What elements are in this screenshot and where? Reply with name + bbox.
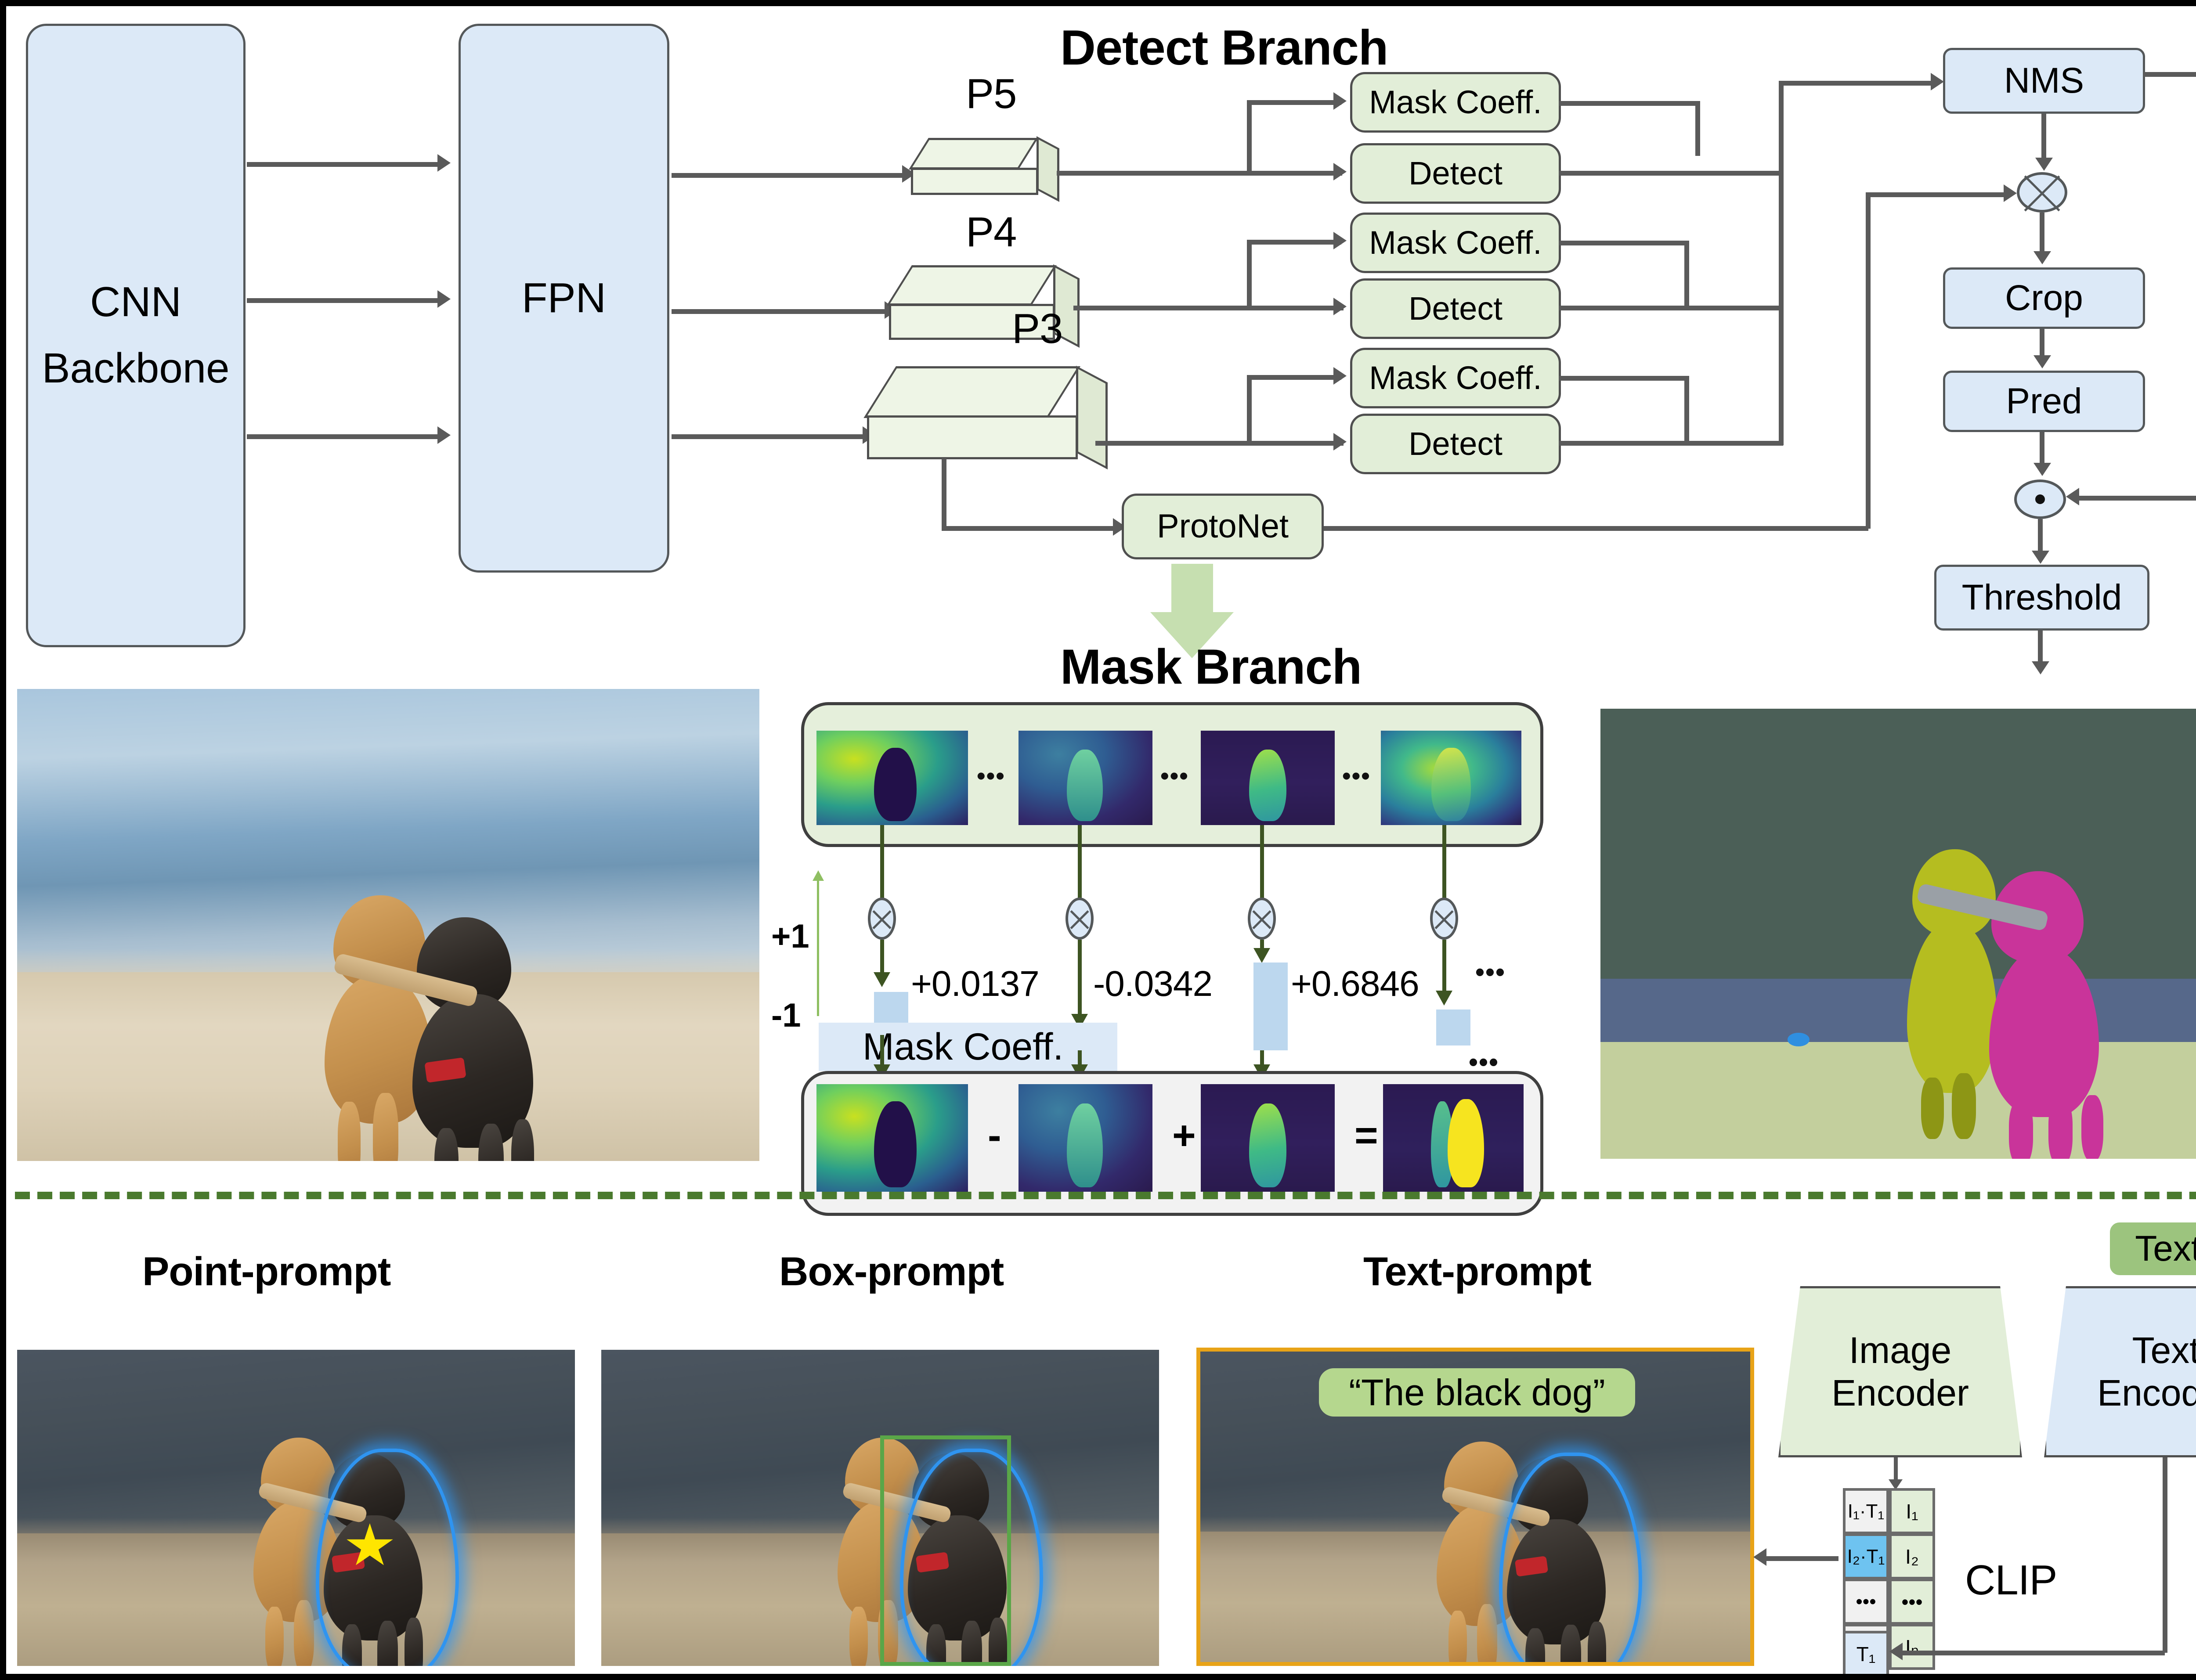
- clip-image-cell-2: I₂: [1889, 1533, 1935, 1579]
- detect-node-p5: Detect: [1350, 143, 1561, 204]
- image-encoder-label-2: Encoder: [1831, 1372, 1969, 1414]
- fpn-node: FPN: [459, 24, 669, 573]
- feature-map-p5: [911, 138, 1056, 208]
- box-prompt-title: Box-prompt: [779, 1249, 1004, 1295]
- prototype-mask-4: [1381, 731, 1521, 825]
- prototype-ellipsis-2: •••: [1160, 761, 1189, 790]
- point-prompt-title: Point-prompt: [142, 1249, 390, 1295]
- protonet-label: ProtoNet: [1157, 509, 1289, 544]
- mask-branch-title: Mask Branch: [1060, 638, 1362, 695]
- text-prompt-image: “The black dog”: [1196, 1348, 1754, 1666]
- p4-label: P4: [966, 208, 1016, 256]
- crop-label: Crop: [2005, 279, 2083, 317]
- assembly-term-1: [816, 1084, 968, 1192]
- coefficient-axis-arrow: [813, 870, 824, 881]
- assembly-term-3: [1201, 1084, 1335, 1192]
- mask-coeff-legend: Mask Coeff.: [819, 1023, 1117, 1071]
- pred-label: Pred: [2006, 382, 2082, 420]
- clip-sim-cell-2: I₂·T₁: [1843, 1533, 1889, 1579]
- section-divider: [15, 1192, 2196, 1199]
- clip-title: CLIP: [1965, 1556, 2057, 1604]
- detect-label: Detect: [1409, 292, 1503, 326]
- assembly-result: [1383, 1084, 1524, 1192]
- threshold-node: Threshold: [1934, 565, 2149, 631]
- multiply-operator: [2017, 172, 2067, 213]
- p5-label: P5: [966, 70, 1016, 118]
- coefficient-bar-3: [1253, 963, 1288, 1050]
- prototype-mask-1: [816, 731, 968, 825]
- protonet-node: ProtoNet: [1122, 494, 1324, 559]
- segmentation-result-image: [1600, 709, 2196, 1159]
- axis-label-minus-one: -1: [771, 996, 801, 1035]
- mask-multiply-operator-1: [868, 898, 896, 940]
- nms-node: NMS: [1943, 48, 2145, 114]
- clip-image-cell-3: •••: [1889, 1579, 1935, 1625]
- assembly-operator-plus: +: [1172, 1113, 1196, 1159]
- clip-sim-cell-1: I₁·T₁: [1843, 1488, 1889, 1534]
- clip-image-cell-label: I₁: [1906, 1500, 1918, 1523]
- prototype-mask-3: [1201, 731, 1335, 825]
- detect-label: Detect: [1409, 156, 1503, 191]
- clip-sim-cell-label: I₁·T₁: [1848, 1500, 1884, 1522]
- text-prompt-title: Text-prompt: [1363, 1249, 1591, 1295]
- coefficient-axis-line: [817, 880, 819, 1016]
- text-badge-label: Text: [2135, 1230, 2196, 1268]
- cnn-backbone-label-2: Backbone: [42, 346, 230, 391]
- mask-coeff-label: Mask Coeff.: [1369, 226, 1542, 260]
- assembly-operator-equals: =: [1354, 1113, 1378, 1159]
- mask-multiply-operator-3: [1248, 898, 1276, 940]
- dot-operator: [2014, 479, 2066, 519]
- image-encoder-label-1: Image: [1849, 1329, 1951, 1372]
- cnn-backbone-label-1: CNN: [90, 280, 181, 324]
- text-encoder: Text Encoder: [2044, 1286, 2196, 1457]
- text-encoder-label-2: Encoder: [2097, 1372, 2196, 1414]
- clip-sim-cell-label: I₂·T₁: [1847, 1546, 1885, 1568]
- mask-multiply-operator-2: [1065, 898, 1094, 940]
- detect-branch-title: Detect Branch: [1060, 19, 1388, 76]
- detect-label: Detect: [1409, 427, 1503, 461]
- nms-label: NMS: [2004, 62, 2084, 100]
- clip-image-cell-label: •••: [1901, 1590, 1922, 1614]
- axis-label-plus-one: +1: [771, 917, 809, 955]
- clip-image-cell-1: I₁: [1889, 1488, 1935, 1534]
- prototype-ellipsis-1: •••: [977, 761, 1005, 790]
- mask-coeff-node-p3: Mask Coeff.: [1350, 348, 1561, 408]
- assembly-term-2: [1019, 1084, 1152, 1192]
- clip-text-cell: T₁: [1843, 1631, 1889, 1677]
- mask-coeff-node-p5: Mask Coeff.: [1350, 72, 1561, 133]
- text-badge: Text: [2110, 1222, 2196, 1275]
- fpn-label: FPN: [522, 276, 606, 321]
- clip-image-cell-label: I₂: [1905, 1545, 1919, 1568]
- prototype-mask-2: [1019, 731, 1152, 825]
- clip-sim-cell-label: •••: [1856, 1591, 1876, 1613]
- coefficient-label-2: -0.0342: [1093, 963, 1212, 1005]
- threshold-label: Threshold: [1962, 579, 2122, 616]
- prototype-ellipsis-3: •••: [1342, 761, 1371, 790]
- assembly-operator-minus: -: [988, 1113, 1001, 1159]
- mask-coeff-legend-label: Mask Coeff.: [819, 1025, 1063, 1069]
- mask-coeff-label: Mask Coeff.: [1369, 361, 1542, 395]
- coefficient-ellipsis-top: •••: [1475, 957, 1506, 987]
- crop-node: Crop: [1943, 267, 2145, 329]
- detect-node-p4: Detect: [1350, 278, 1561, 339]
- point-prompt-image: [17, 1350, 575, 1666]
- box-prompt-rectangle[interactable]: [880, 1435, 1011, 1666]
- detect-node-p3: Detect: [1350, 414, 1561, 474]
- coefficient-bar-4: [1436, 1009, 1470, 1045]
- coefficient-label-1: +0.0137: [911, 963, 1039, 1005]
- cnn-backbone-node: CNN Backbone: [26, 24, 246, 647]
- clip-sim-cell-3: •••: [1843, 1579, 1889, 1625]
- clip-text-cell-label: T₁: [1856, 1642, 1876, 1666]
- figure-canvas: Detect Branch CNN Backbone FPN P5 P4 P3 …: [0, 0, 2196, 1680]
- mask-multiply-operator-4: [1430, 898, 1458, 940]
- mask-coeff-node-p4: Mask Coeff.: [1350, 213, 1561, 273]
- text-encoder-label-1: Text: [2132, 1329, 2196, 1372]
- coefficient-label-3: +0.6846: [1291, 963, 1419, 1005]
- text-prompt-query-bubble[interactable]: “The black dog”: [1319, 1368, 1635, 1417]
- p3-label: P3: [1012, 305, 1062, 353]
- box-prompt-image: [601, 1350, 1159, 1666]
- text-prompt-query-label: “The black dog”: [1349, 1371, 1605, 1414]
- feature-map-p3: [867, 366, 1095, 485]
- image-encoder: Image Encoder: [1778, 1286, 2022, 1457]
- pred-node: Pred: [1943, 371, 2145, 432]
- mask-coeff-label: Mask Coeff.: [1369, 85, 1542, 119]
- input-image: [17, 689, 759, 1161]
